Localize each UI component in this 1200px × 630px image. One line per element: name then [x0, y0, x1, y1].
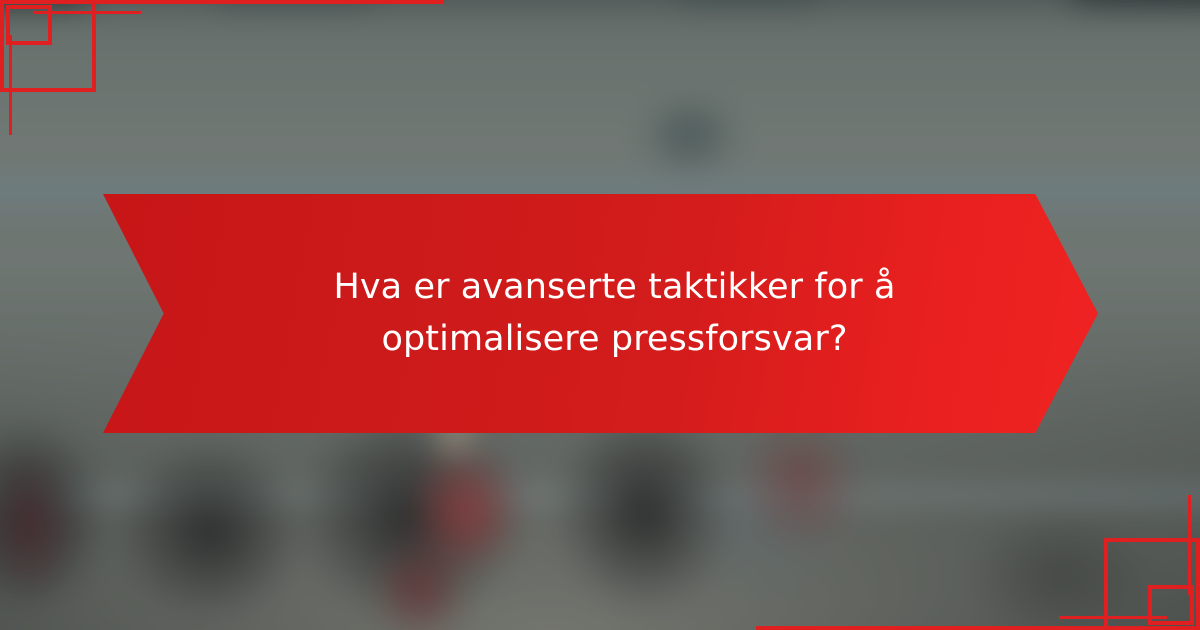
- page-canvas: Hva er avanserte taktikker for å optimal…: [0, 0, 1200, 630]
- headline-ribbon: Hva er avanserte taktikker for å optimal…: [103, 194, 1098, 433]
- page-title: Hva er avanserte taktikker for å optimal…: [206, 262, 996, 364]
